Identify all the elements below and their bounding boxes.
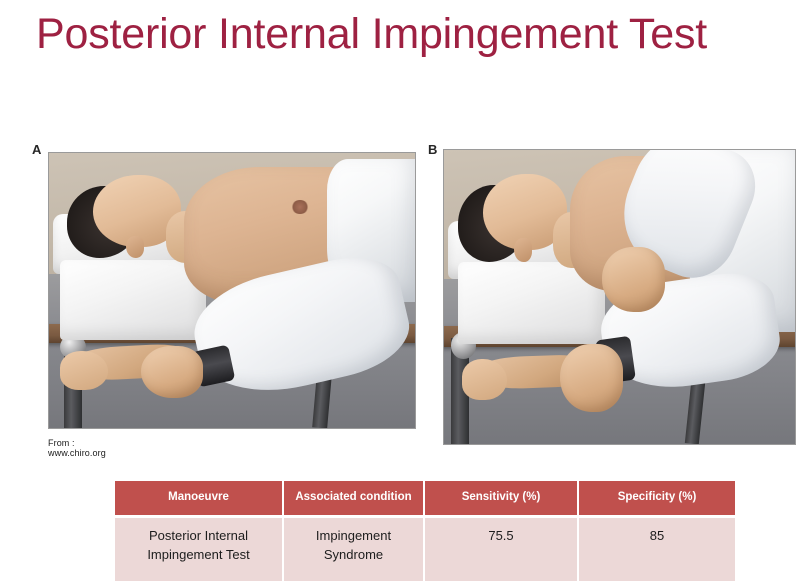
clinician-hand-forearm bbox=[560, 344, 623, 412]
column-header-associated-condition: Associated condition bbox=[283, 481, 424, 517]
cell-sensitivity: 75.5 bbox=[424, 517, 578, 581]
patient-ear bbox=[126, 236, 144, 258]
column-header-sensitivity: Sensitivity (%) bbox=[424, 481, 578, 517]
patient-ear bbox=[514, 238, 532, 262]
scene-b bbox=[444, 150, 795, 444]
photo-panel-b bbox=[443, 149, 796, 445]
clinician-hand bbox=[141, 346, 203, 398]
scene-a bbox=[49, 153, 415, 428]
photo-attribution: From : www.chiro.org bbox=[48, 438, 106, 458]
table-row: Posterior Internal Impingement Test Impi… bbox=[115, 517, 735, 581]
patient-hand bbox=[60, 351, 108, 390]
cell-specificity: 85 bbox=[578, 517, 735, 581]
anatomic-landmark bbox=[291, 200, 309, 214]
photo-panel-a bbox=[48, 152, 416, 429]
panel-label-b: B bbox=[428, 142, 437, 157]
column-header-specificity: Specificity (%) bbox=[578, 481, 735, 517]
patient-hand bbox=[462, 359, 508, 400]
cell-manoeuvre: Posterior Internal Impingement Test bbox=[115, 517, 283, 581]
table-header-row: Manoeuvre Associated condition Sensitivi… bbox=[115, 481, 735, 517]
findings-table: Manoeuvre Associated condition Sensitivi… bbox=[115, 481, 735, 581]
column-header-manoeuvre: Manoeuvre bbox=[115, 481, 283, 517]
panel-label-a: A bbox=[32, 142, 41, 157]
drape bbox=[60, 260, 206, 340]
clinician-hand-shoulder bbox=[602, 247, 665, 312]
cell-associated-condition: Impingement Syndrome bbox=[283, 517, 424, 581]
